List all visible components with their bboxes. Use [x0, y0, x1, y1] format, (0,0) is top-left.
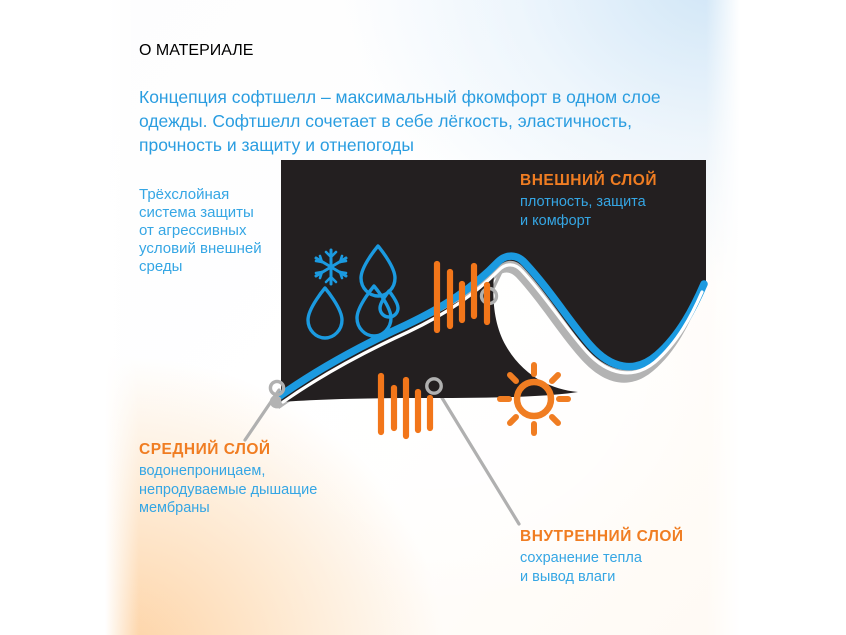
infographic-root: О МАТЕРИАЛЕ Концепция софтшелл – максима…: [0, 0, 846, 635]
callout-inner-layer-body: сохранение тепла и вывод влаги: [520, 549, 684, 586]
intro-paragraph: Концепция софтшелл – максимальный фкомфо…: [139, 85, 719, 157]
callout-outer-layer-body: плотность, защита и комфорт: [520, 193, 657, 230]
callout-outer-layer: ВНЕШНИЙ СЛОЙ плотность, защита и комфорт: [520, 171, 657, 230]
callout-middle-layer-body: водонепроницаем, непродуваемые дышащие м…: [139, 462, 317, 517]
sun-icon: [500, 365, 568, 433]
callout-middle-layer: СРЕДНИЙ СЛОЙ водонепроницаем, непродувае…: [139, 440, 317, 517]
callout-inner-layer: ВНУТРЕННИЙ СЛОЙ сохранение тепла и вывод…: [520, 527, 684, 586]
callout-middle-layer-heading: СРЕДНИЙ СЛОЙ: [139, 440, 317, 459]
callout-outer-layer-heading: ВНЕШНИЙ СЛОЙ: [520, 171, 657, 190]
side-note-text: Трёхслойная система защиты от агрессивны…: [139, 186, 269, 276]
connector-line-inner-layer: [436, 388, 519, 524]
callout-inner-layer-heading: ВНУТРЕННИЙ СЛОЙ: [520, 527, 684, 546]
page-title: О МАТЕРИАЛЕ: [139, 42, 253, 60]
